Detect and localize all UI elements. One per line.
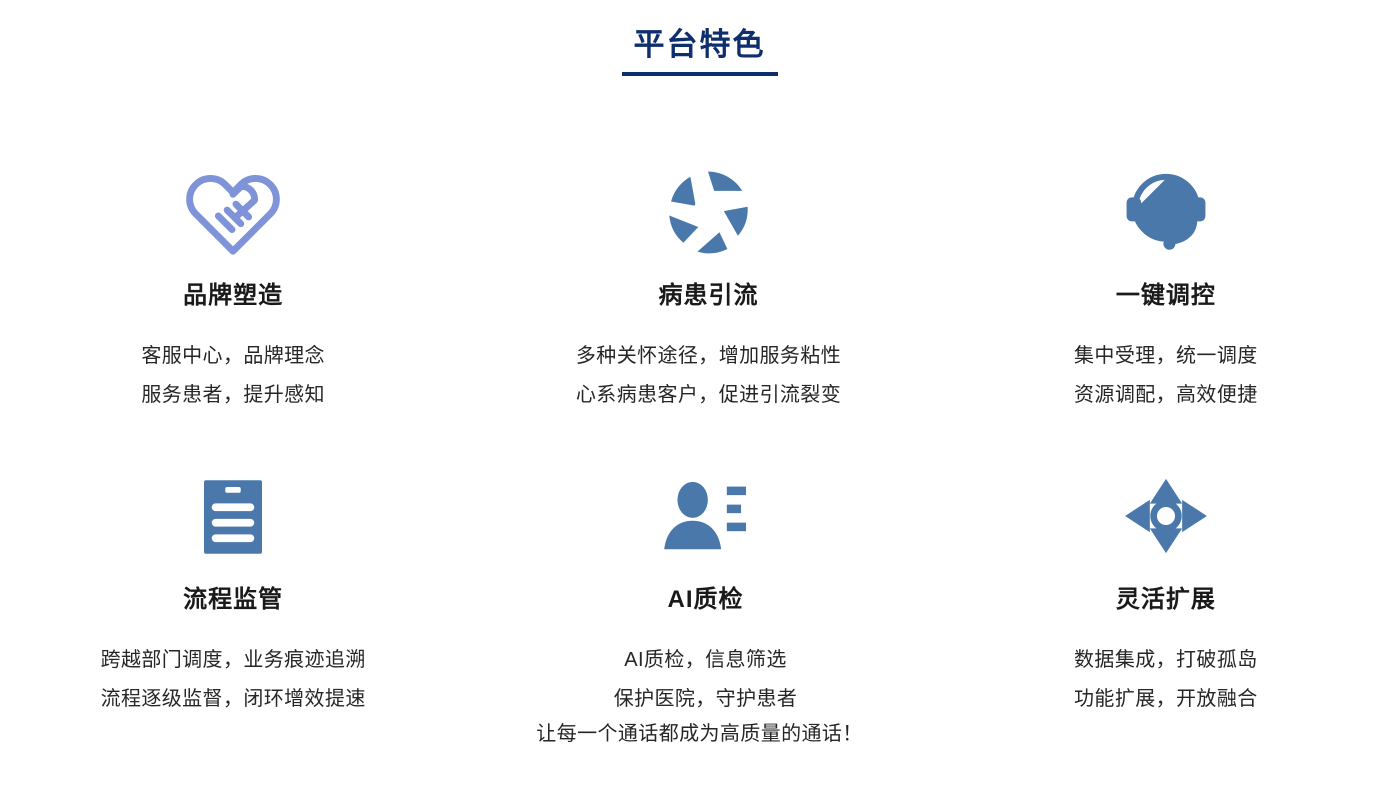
feature-desc-line: AI质检，信息筛选	[614, 641, 798, 680]
feature-title: AI质检	[667, 584, 743, 615]
feature-description: 数据集成，打破孤岛 功能扩展，开放融合	[1074, 641, 1258, 719]
feature-card-patient-acquisition[interactable]: 病患引流 多种关怀途径，增加服务粘性 心系病患客户，促进引流裂变	[475, 150, 941, 450]
feature-grid: 品牌塑造 客服中心，品牌理念 服务患者，提升感知	[0, 150, 1399, 750]
feature-desc-line: 客服中心，品牌理念	[141, 337, 325, 376]
feature-desc-line: 功能扩展，开放融合	[1074, 680, 1258, 719]
clipboard-document-icon	[204, 470, 262, 562]
feature-description: 跨越部门调度，业务痕迹追溯 流程逐级监督，闭环增效提速	[101, 641, 366, 719]
aperture-icon	[664, 160, 752, 264]
feature-title: 流程监管	[183, 584, 283, 615]
feature-description: 集中受理，统一调度 资源调配，高效便捷	[1074, 337, 1258, 415]
feature-description: 客服中心，品牌理念 服务患者，提升感知	[141, 337, 325, 415]
feature-desc-line: 集中受理，统一调度	[1074, 337, 1258, 376]
feature-title: 品牌塑造	[183, 280, 283, 311]
feature-card-brand-building[interactable]: 品牌塑造 客服中心，品牌理念 服务患者，提升感知	[0, 150, 466, 450]
feature-title: 灵活扩展	[1116, 584, 1216, 615]
feature-desc-line: 数据集成，打破孤岛	[1074, 641, 1258, 680]
feature-title: 病患引流	[658, 280, 758, 311]
feature-desc-line: 资源调配，高效便捷	[1074, 376, 1258, 415]
feature-title: 一键调控	[1116, 280, 1216, 311]
section-header: 平台特色	[0, 26, 1399, 76]
tagline: 让每一个通话都成为高质量的通话！	[0, 718, 1399, 750]
feature-desc-line: 服务患者，提升感知	[141, 376, 325, 415]
feature-description: 多种关怀途径，增加服务粘性 心系病患客户，促进引流裂变	[576, 337, 841, 415]
feature-card-process-supervision[interactable]: 流程监管 跨越部门调度，业务痕迹追溯 流程逐级监督，闭环增效提速	[0, 450, 466, 750]
feature-card-flexible-expansion[interactable]: 灵活扩展 数据集成，打破孤岛 功能扩展，开放融合	[933, 450, 1399, 750]
feature-desc-line: 保护医院，守护患者	[614, 680, 798, 719]
four-way-expand-icon	[1123, 470, 1209, 562]
platform-features-page: 平台特色 品牌塑造 客服中心，品牌理念 服务患者，提升感知	[0, 0, 1399, 786]
feature-desc-line: 流程逐级监督，闭环增效提速	[101, 680, 366, 719]
headset-support-icon	[1121, 160, 1211, 264]
heart-handshake-icon	[184, 160, 282, 264]
feature-desc-line: 多种关怀途径，增加服务粘性	[576, 337, 841, 376]
page-title: 平台特色	[634, 26, 766, 72]
feature-card-ai-quality-inspection[interactable]: AI质检 AI质检，信息筛选 保护医院，守护患者	[472, 450, 938, 750]
user-profile-lines-icon	[664, 470, 746, 562]
feature-desc-line: 跨越部门调度，业务痕迹追溯	[101, 641, 366, 680]
feature-desc-line: 心系病患客户，促进引流裂变	[576, 376, 841, 415]
feature-description: AI质检，信息筛选 保护医院，守护患者	[614, 641, 798, 719]
feature-card-one-click-control[interactable]: 一键调控 集中受理，统一调度 资源调配，高效便捷	[933, 150, 1399, 450]
title-underline	[622, 72, 778, 76]
